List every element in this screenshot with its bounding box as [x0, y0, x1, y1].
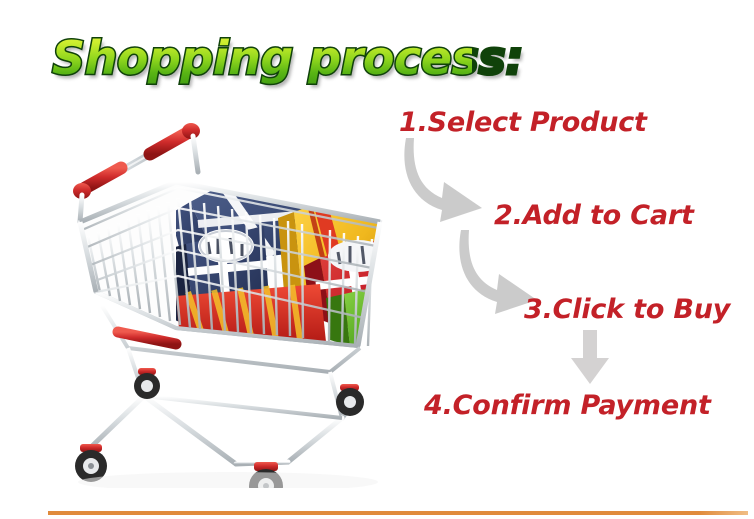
cart-wheel-back-right [336, 384, 364, 416]
page-title: Shopping process: Shopping process: [52, 28, 472, 90]
cart-wheel-front-left [75, 444, 107, 482]
step-3-label: 3.Click to Buy [524, 294, 730, 325]
bottom-divider [48, 511, 748, 515]
page-title-text: Shopping process: [52, 28, 472, 88]
cart-legs-and-wheels [75, 368, 364, 488]
shopping-process-banner: Shopping process: Shopping process: [0, 0, 754, 519]
straight-arrow-step3-to-step4 [568, 330, 612, 389]
step-1-label: 1.Select Product [399, 107, 647, 138]
step-2-label: 2.Add to Cart [494, 200, 694, 231]
step-4-label: 4.Confirm Payment [424, 390, 711, 421]
shopping-cart-illustration [58, 96, 418, 488]
cart-shadow [78, 472, 378, 488]
